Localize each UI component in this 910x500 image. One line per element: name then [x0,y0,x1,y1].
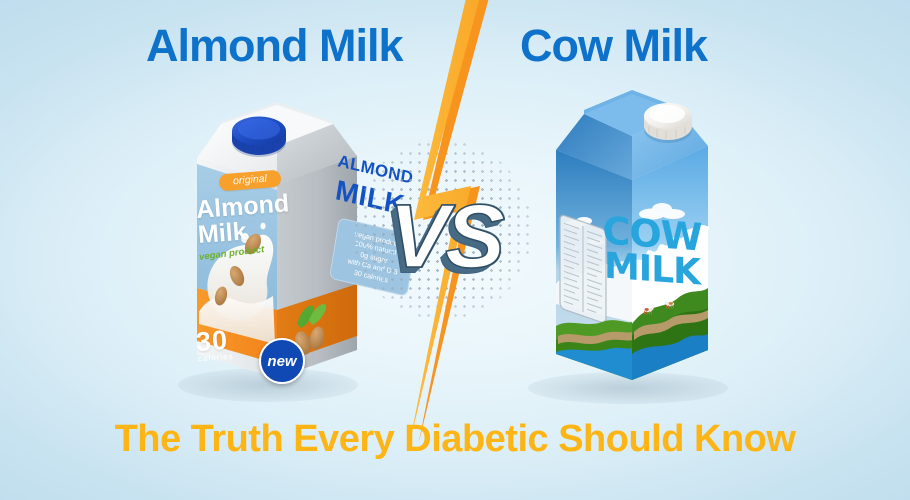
versus-badge: VS [330,182,560,292]
almond-name-line2: Milk [197,217,248,248]
almond-carton-cap [232,117,286,158]
poster-canvas: Almond Milk Cow Milk [0,0,910,500]
versus-label: VS [330,182,560,292]
cow-milk-carton[interactable]: COW MILK [530,88,730,394]
almond-product-name: Almond Milk [195,190,308,248]
cow-carton-cap [644,103,692,143]
tagline: The Truth Every Diabetic Should Know [0,418,910,461]
cow-product-name: COW MILK [596,212,708,292]
versus-group: VS [330,0,560,440]
almond-new-badge: new [259,338,305,384]
cow-name-line2: MILK [596,248,708,292]
